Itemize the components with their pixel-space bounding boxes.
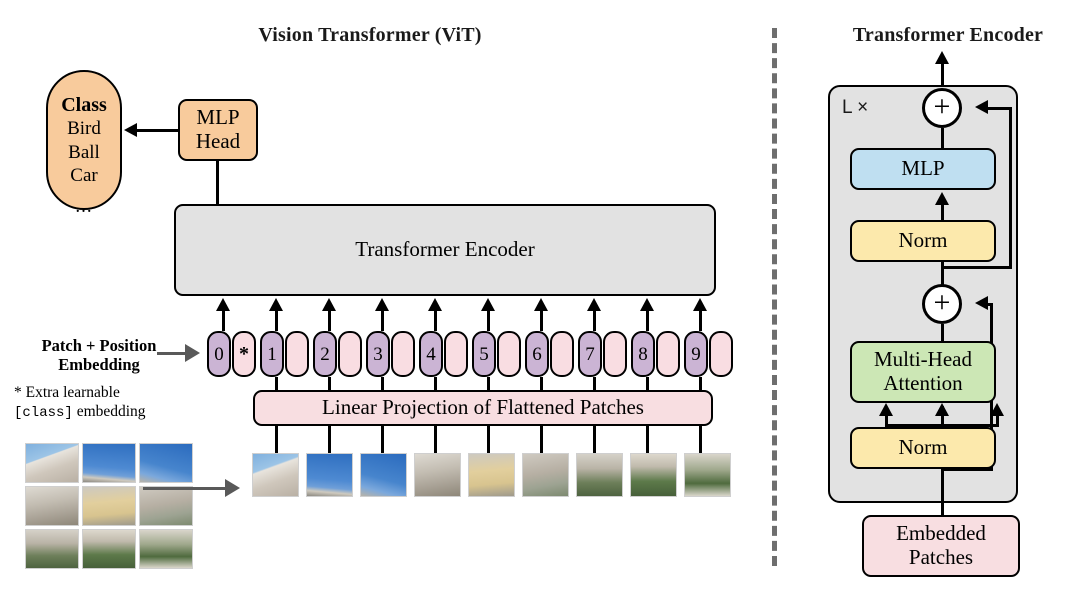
embedding-pointer-line <box>157 352 185 355</box>
class-pill-heading: Class <box>61 94 107 116</box>
flatten-pointer-line <box>143 487 225 490</box>
token-index-pill: 7 <box>578 331 602 377</box>
residual-add-top: + <box>922 88 962 128</box>
class-item: Ball <box>68 141 100 164</box>
panel-divider <box>772 28 777 566</box>
token-1: 1 <box>260 331 309 377</box>
image-patch <box>139 443 193 483</box>
mlp-box: MLP <box>850 148 996 190</box>
mlp-head-to-encoder-line <box>216 161 219 205</box>
flattened-patch-sequence <box>252 453 731 497</box>
embedded-to-norm-line <box>941 467 944 517</box>
residual-top-line-v <box>1009 107 1012 269</box>
token-index-pill: 5 <box>472 331 496 377</box>
mlp-head-box: MLP Head <box>178 99 258 161</box>
attention-label-line1: Multi-Head <box>874 348 972 372</box>
norm-top-label: Norm <box>899 229 948 253</box>
extra-learnable-footnote: * Extra learnable [class] embedding <box>14 383 214 423</box>
multi-head-attention-box: Multi-Head Attention <box>850 341 996 403</box>
token-position-pill <box>444 331 468 377</box>
norm-top-to-add-line <box>941 262 944 286</box>
footnote-line1: * Extra learnable <box>14 383 214 402</box>
token-position-pill <box>656 331 680 377</box>
pp-label-line2: Embedding <box>6 355 192 374</box>
class-pill-ellipsis: ... <box>75 196 92 217</box>
image-patch <box>139 486 193 526</box>
token-3: 3 <box>366 331 415 377</box>
token-position-pill <box>497 331 521 377</box>
norm-bottom-box: Norm <box>850 427 996 469</box>
token-position-pill <box>285 331 309 377</box>
residual-top-tap-line <box>941 266 1012 269</box>
mlp-to-class-arrowhead <box>124 123 137 137</box>
footnote-tail: embedding <box>73 403 146 420</box>
flatten-pointer-arrowhead <box>225 479 240 497</box>
token-position-pill <box>709 331 733 377</box>
image-patch <box>139 529 193 569</box>
token-position-pill <box>550 331 574 377</box>
residual-bottom-arrowhead <box>975 296 988 310</box>
image-patch <box>252 453 299 497</box>
token-5: 5 <box>472 331 521 377</box>
residual-add-bottom: + <box>922 284 962 324</box>
mlp-label: MLP <box>901 157 944 181</box>
attention-label-line2: Attention <box>883 372 962 396</box>
token-position-pill <box>338 331 362 377</box>
image-patch <box>306 453 353 497</box>
token-8: 8 <box>631 331 680 377</box>
encoder-repeat-label: L × <box>842 97 868 119</box>
token-index-pill: 1 <box>260 331 284 377</box>
patch-position-embedding-label: Patch + Position Embedding <box>6 336 192 375</box>
image-patch <box>82 443 136 483</box>
class-item: Car <box>70 164 97 187</box>
class-item: Bird <box>67 117 101 140</box>
image-patch <box>414 453 461 497</box>
transformer-encoder-box: Transformer Encoder <box>174 204 716 296</box>
transformer-encoder-label: Transformer Encoder <box>355 238 534 262</box>
norm-to-mlp-arrowhead <box>935 192 949 205</box>
image-patch <box>25 529 79 569</box>
linear-projection-bar: Linear Projection of Flattened Patches <box>253 390 713 426</box>
left-panel-title: Vision Transformer (ViT) <box>200 24 540 47</box>
add-to-attention-line <box>941 324 944 342</box>
class-token-code: [class] <box>14 405 73 421</box>
token-6: 6 <box>525 331 574 377</box>
token-index-pill: 0 <box>207 331 231 377</box>
token-7: 7 <box>578 331 627 377</box>
image-patch <box>468 453 515 497</box>
image-patch <box>630 453 677 497</box>
image-patch <box>522 453 569 497</box>
token-index-pill: 4 <box>419 331 443 377</box>
image-patch <box>576 453 623 497</box>
plus-symbol: + <box>934 92 951 122</box>
encoder-output-arrowhead <box>935 51 949 64</box>
norm-top-box: Norm <box>850 220 996 262</box>
source-image-patch-grid <box>25 443 193 569</box>
norm-to-mlp-line <box>941 203 944 221</box>
embedded-patches-label-line1: Embedded <box>896 522 986 546</box>
norm-bottom-label: Norm <box>899 436 948 460</box>
embedded-patches-label-line2: Patches <box>909 546 973 570</box>
token-index-pill: 8 <box>631 331 655 377</box>
mlp-head-label-line1: MLP <box>196 106 239 130</box>
image-patch <box>25 486 79 526</box>
image-patch <box>360 453 407 497</box>
token-index-pill: 6 <box>525 331 549 377</box>
footnote-line2: [class] embedding <box>14 402 214 423</box>
right-panel-title: Transformer Encoder <box>828 24 1068 47</box>
plus-symbol: + <box>934 288 951 318</box>
token-9: 9 <box>684 331 733 377</box>
image-patch <box>82 529 136 569</box>
image-patch <box>25 443 79 483</box>
class-output-pill: Class Bird Ball Car ... <box>46 70 122 210</box>
token-index-pill: 9 <box>684 331 708 377</box>
mlp-to-class-line <box>136 129 178 132</box>
token-position-pill: * <box>232 331 256 377</box>
token-4: 4 <box>419 331 468 377</box>
embedding-pointer-arrowhead <box>185 344 200 362</box>
token-index-pill: 2 <box>313 331 337 377</box>
token-position-pill <box>391 331 415 377</box>
token-0: 0 * <box>207 331 256 377</box>
token-position-pill <box>603 331 627 377</box>
image-patch <box>684 453 731 497</box>
token-index-pill: 3 <box>366 331 390 377</box>
token-2: 2 <box>313 331 362 377</box>
mlp-head-label-line2: Head <box>196 130 240 154</box>
embedded-patches-box: Embedded Patches <box>862 515 1020 577</box>
image-patch <box>82 486 136 526</box>
linear-projection-label: Linear Projection of Flattened Patches <box>322 396 644 420</box>
add-to-mlp-line <box>941 128 944 149</box>
residual-top-arrowhead <box>975 100 988 114</box>
